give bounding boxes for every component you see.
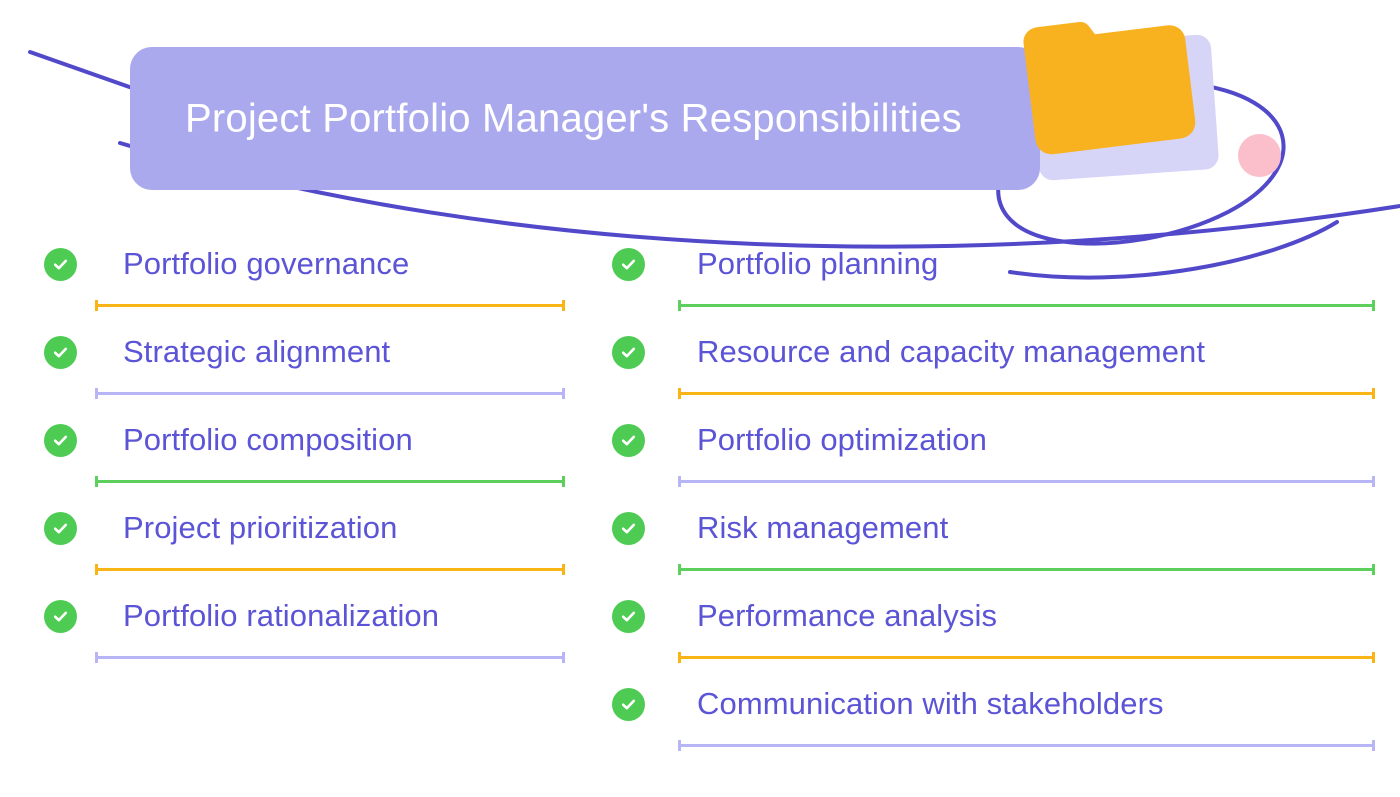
list-item[interactable]: Communication with stakeholders xyxy=(612,672,1382,760)
list-item-label: Project prioritization xyxy=(123,510,397,546)
divider-bar xyxy=(681,480,1372,483)
list-item-label: Performance analysis xyxy=(697,598,997,634)
check-circle-icon xyxy=(612,336,645,369)
list-item-row[interactable]: Portfolio optimization xyxy=(612,408,1382,472)
list-item-label: Strategic alignment xyxy=(123,334,390,370)
list-item[interactable]: Strategic alignment xyxy=(44,320,584,408)
title-banner: Project Portfolio Manager's Responsibili… xyxy=(130,47,1040,190)
list-item-row[interactable]: Portfolio governance xyxy=(44,232,584,296)
page-title: Project Portfolio Manager's Responsibili… xyxy=(185,96,962,141)
check-circle-icon xyxy=(612,424,645,457)
divider-cap-right xyxy=(1372,388,1375,399)
divider-cap-right xyxy=(562,388,565,399)
list-item-divider xyxy=(678,388,1375,399)
divider-cap-right xyxy=(1372,652,1375,663)
check-circle-icon xyxy=(612,688,645,721)
divider-cap-right xyxy=(562,564,565,575)
list-item-divider xyxy=(95,652,565,663)
divider-bar xyxy=(681,304,1372,307)
check-circle-icon xyxy=(612,248,645,281)
divider-cap-right xyxy=(562,300,565,311)
check-circle-icon xyxy=(44,600,77,633)
divider-cap-right xyxy=(1372,564,1375,575)
divider-cap-right xyxy=(1372,476,1375,487)
check-circle-icon xyxy=(44,512,77,545)
divider-bar xyxy=(681,568,1372,571)
list-item-label: Portfolio rationalization xyxy=(123,598,439,634)
divider-cap-right xyxy=(1372,300,1375,311)
list-item[interactable]: Project prioritization xyxy=(44,496,584,584)
slide-canvas: Project Portfolio Manager's Responsibili… xyxy=(0,0,1400,797)
divider-cap-right xyxy=(562,652,565,663)
list-item-row[interactable]: Communication with stakeholders xyxy=(612,672,1382,736)
list-item-divider xyxy=(678,564,1375,575)
list-item-row[interactable]: Performance analysis xyxy=(612,584,1382,648)
list-item-label: Communication with stakeholders xyxy=(697,686,1164,722)
list-item-row[interactable]: Portfolio composition xyxy=(44,408,584,472)
list-item-row[interactable]: Portfolio planning xyxy=(612,232,1382,296)
list-item[interactable]: Portfolio rationalization xyxy=(44,584,584,672)
list-item-label: Portfolio planning xyxy=(697,246,938,282)
pink-dot xyxy=(1238,134,1281,177)
check-circle-icon xyxy=(44,424,77,457)
divider-cap-right xyxy=(562,476,565,487)
list-item-row[interactable]: Strategic alignment xyxy=(44,320,584,384)
check-circle-icon xyxy=(44,248,77,281)
list-item-label: Resource and capacity management xyxy=(697,334,1205,370)
list-item[interactable]: Resource and capacity management xyxy=(612,320,1382,408)
list-item-divider xyxy=(678,300,1375,311)
divider-bar xyxy=(98,304,562,307)
list-item-divider xyxy=(678,740,1375,751)
divider-bar xyxy=(98,392,562,395)
divider-bar xyxy=(98,568,562,571)
check-circle-icon xyxy=(44,336,77,369)
list-item-row[interactable]: Risk management xyxy=(612,496,1382,560)
list-item-divider xyxy=(95,476,565,487)
list-item-divider xyxy=(678,476,1375,487)
list-item-row[interactable]: Resource and capacity management xyxy=(612,320,1382,384)
divider-cap-right xyxy=(1372,740,1375,751)
list-item[interactable]: Portfolio optimization xyxy=(612,408,1382,496)
list-item-label: Risk management xyxy=(697,510,948,546)
list-item-divider xyxy=(95,388,565,399)
list-item-label: Portfolio composition xyxy=(123,422,413,458)
divider-bar xyxy=(98,656,562,659)
right-column: Portfolio planningResource and capacity … xyxy=(612,232,1382,760)
list-item[interactable]: Portfolio composition xyxy=(44,408,584,496)
divider-bar xyxy=(681,744,1372,747)
list-item-label: Portfolio governance xyxy=(123,246,409,282)
left-column: Portfolio governanceStrategic alignmentP… xyxy=(44,232,584,672)
list-item-row[interactable]: Project prioritization xyxy=(44,496,584,560)
list-item-divider xyxy=(95,300,565,311)
list-item[interactable]: Performance analysis xyxy=(612,584,1382,672)
list-item-label: Portfolio optimization xyxy=(697,422,987,458)
folder-icon xyxy=(1007,1,1209,165)
list-item[interactable]: Portfolio planning xyxy=(612,232,1382,320)
divider-bar xyxy=(681,392,1372,395)
list-item-row[interactable]: Portfolio rationalization xyxy=(44,584,584,648)
check-circle-icon xyxy=(612,600,645,633)
list-item[interactable]: Portfolio governance xyxy=(44,232,584,320)
list-item-divider xyxy=(95,564,565,575)
divider-bar xyxy=(98,480,562,483)
check-circle-icon xyxy=(612,512,645,545)
list-item-divider xyxy=(678,652,1375,663)
list-item[interactable]: Risk management xyxy=(612,496,1382,584)
divider-bar xyxy=(681,656,1372,659)
